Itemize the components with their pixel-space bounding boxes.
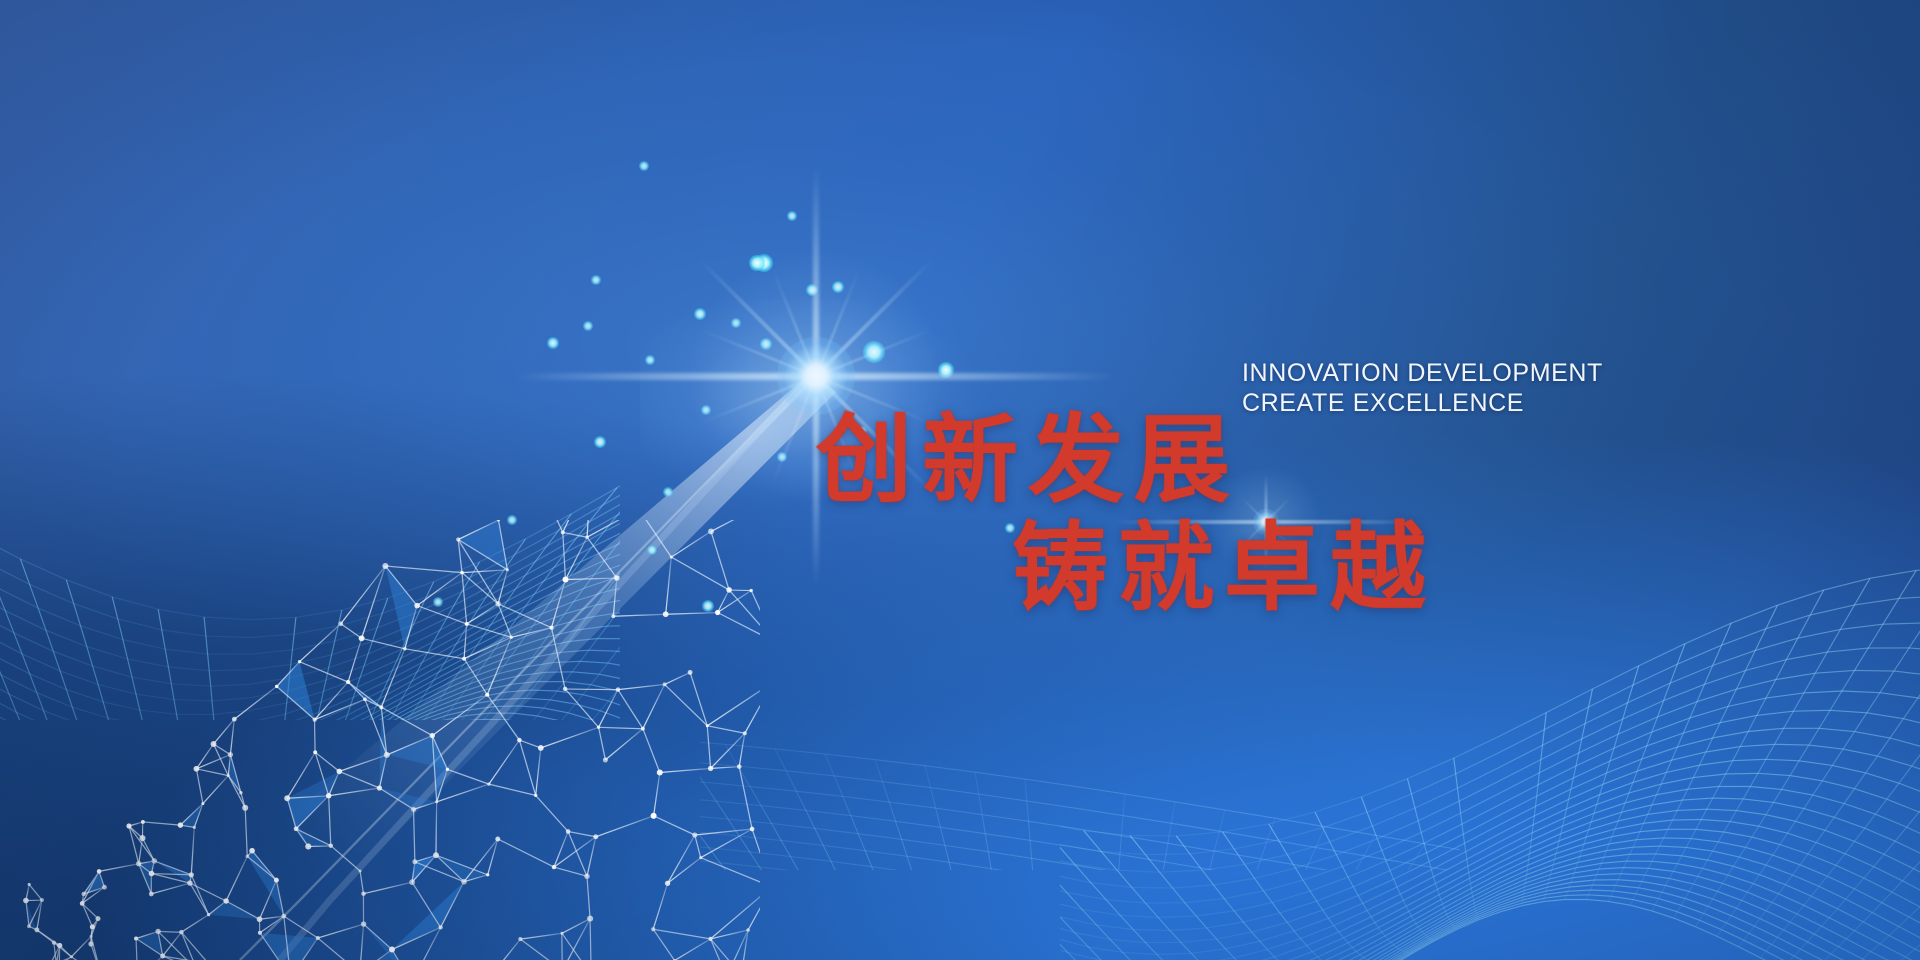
sparkle-dot-icon (433, 597, 442, 606)
sparkle-dot-icon (755, 254, 774, 273)
headline-english-line-2: CREATE EXCELLENCE (1242, 388, 1524, 418)
sparkle-dot-icon (749, 255, 765, 271)
banner-canvas: 创新发展 铸就卓越 INNOVATION DEVELOPMENT CREATE … (0, 0, 1920, 960)
sparkle-dot-icon (594, 436, 606, 448)
sparkle-dot-icon (777, 452, 786, 461)
wireframe-dome-grid-center (325, 729, 1825, 960)
sparkle-dot-icon (760, 338, 772, 350)
sparkle-dot-icon (645, 355, 654, 364)
sparkle-dot-icon (938, 362, 954, 378)
headline-chinese-line-1: 创新发展 (816, 412, 1240, 508)
sparkle-dot-icon (547, 337, 559, 349)
headline-english-line-1: INNOVATION DEVELOPMENT (1242, 358, 1603, 388)
sparkle-dot-icon (832, 281, 844, 293)
flare-ray (516, 373, 1116, 380)
sparkle-dot-icon (591, 275, 600, 284)
sparkle-dot-icon (639, 161, 648, 170)
sparkle-dot-icon (702, 600, 714, 612)
sparkle-dot-icon (701, 405, 710, 414)
sparkle-dot-icon (806, 284, 818, 296)
sparkle-dot-icon (863, 341, 885, 363)
headline-block: 创新发展 铸就卓越 INNOVATION DEVELOPMENT CREATE … (816, 398, 1516, 638)
low-poly-network-graph (23, 466, 778, 960)
sparkle-dot-icon (663, 487, 672, 496)
sparkle-dot-icon (647, 545, 656, 554)
sparkle-dot-icon (731, 318, 740, 327)
headline-chinese-line-2: 铸就卓越 (1012, 520, 1436, 616)
sparkle-dot-icon (583, 321, 592, 330)
sparkle-dot-icon (787, 211, 796, 220)
sparkle-dot-icon (507, 515, 516, 524)
rising-light-beam (120, 372, 836, 960)
sparkle-dot-icon (694, 308, 706, 320)
